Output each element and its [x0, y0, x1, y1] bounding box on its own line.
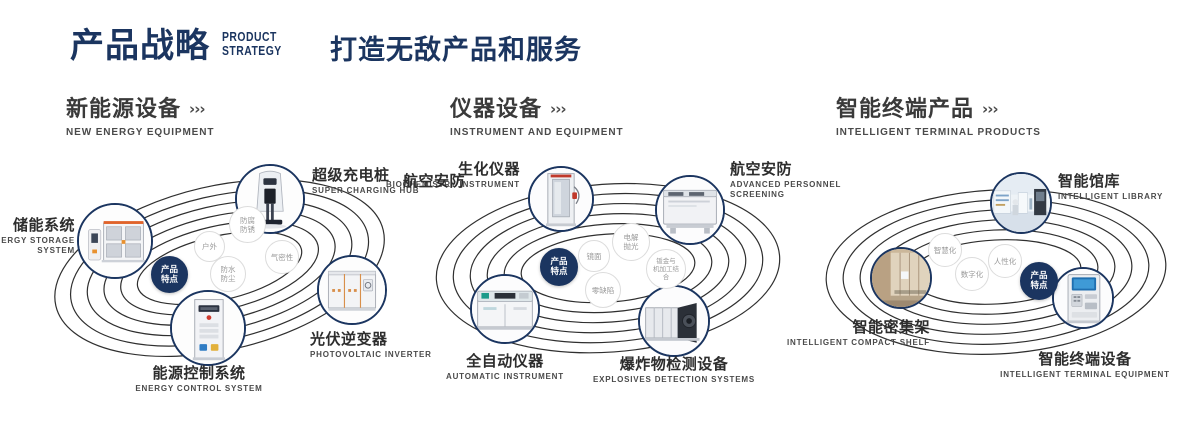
section-heading-instrument-cn: 仪器设备›››	[450, 96, 623, 123]
section-heading-new-energy: 新能源设备››› NEW ENERGY EQUIPMENT	[66, 96, 214, 138]
product-label-intelligent-compact-shelf: 智能密集架 INTELLIGENT COMPACT SHELF	[770, 318, 930, 348]
chevrons-right-icon: ›››	[189, 96, 205, 122]
section-heading-instrument-cn-text: 仪器设备	[450, 97, 542, 122]
section-heading-terminal: 智能终端产品››› INTELLIGENT TERMINAL PRODUCTS	[836, 96, 1041, 138]
page-title-english-line2: STRATEGY	[222, 44, 282, 58]
feature-bubble-airtight: 气密性	[265, 240, 299, 274]
section-heading-instrument-en: INSTRUMENT AND EQUIPMENT	[450, 127, 623, 138]
page-title-english: PRODUCT STRATEGY	[222, 30, 282, 58]
compact-shelf-icon	[872, 249, 930, 307]
product-circle-biochemistry-instrument[interactable]	[528, 166, 594, 232]
page-header: 产品战略 PRODUCT STRATEGY 打造无敌产品和服务	[0, 0, 1200, 86]
feature-bubble-main: 产品 特点	[1020, 262, 1058, 300]
feature-bubble-intelligentization: 智慧化	[928, 233, 962, 267]
product-label-energy-control-system: 能源控制系统 ENERGY CONTROL SYSTEM	[84, 364, 314, 394]
product-label-automatic-instrument: 全自动仪器 AUTOMATIC INSTRUMENT	[405, 352, 605, 382]
section-heading-terminal-cn-text: 智能终端产品	[836, 97, 974, 122]
cluster-new-energy-equipment: .spiral ellipse{fill:none;stroke:#2f2f2f…	[20, 150, 420, 412]
product-circle-advanced-personnel-screening[interactable]	[655, 175, 725, 245]
product-circle-intelligent-terminal-equipment[interactable]	[1052, 267, 1114, 329]
library-room-icon	[992, 174, 1050, 232]
chevrons-right-icon: ›››	[550, 96, 566, 122]
product-label-energy-storage-system: 储能系统 ENERGY STORAGE SYSTEM	[0, 216, 75, 256]
page-title: 产品战略	[70, 26, 210, 66]
feature-bubble-waterproof: 防水 防尘	[210, 256, 246, 292]
product-circle-energy-control-system[interactable]	[170, 290, 246, 366]
biochemistry-scanner-icon	[530, 168, 592, 230]
section-heading-new-energy-en: NEW ENERGY EQUIPMENT	[66, 127, 214, 138]
kiosk-terminal-icon	[1054, 269, 1112, 327]
product-circle-photovoltaic-inverter[interactable]	[317, 255, 387, 325]
feature-bubble-humanization: 人性化	[988, 244, 1022, 278]
inverter-cabinet-icon	[319, 257, 385, 323]
feature-bubble-digitalization: 数字化	[955, 257, 989, 291]
section-heading-terminal-cn: 智能终端产品›››	[836, 96, 1041, 123]
product-label-intelligent-library: 智能馆库 INTELLIGENT LIBRARY	[1058, 172, 1163, 202]
feature-bubble-main: 产品 特点	[151, 256, 188, 293]
explosives-detector-icon	[640, 287, 708, 355]
feature-bubble-mirror: 镜面	[578, 240, 610, 272]
product-circle-explosives-detection-systems[interactable]	[638, 285, 710, 357]
feature-bubble-zero-defect: 零缺陷	[585, 272, 621, 308]
product-circle-energy-storage-system[interactable]	[77, 203, 153, 279]
product-circle-automatic-instrument[interactable]	[470, 274, 540, 344]
product-label-aviation-security-left: 航空安防	[403, 172, 465, 190]
section-heading-new-energy-cn: 新能源设备›››	[66, 96, 214, 123]
feature-bubble-sheetmetal-machining: 钣金与 机加工结合	[646, 249, 686, 289]
product-circle-intelligent-library[interactable]	[990, 172, 1052, 234]
chevrons-right-icon: ›››	[982, 96, 998, 122]
automatic-analyzer-icon	[472, 276, 538, 342]
section-heading-new-energy-cn-text: 新能源设备	[66, 97, 181, 122]
section-heading-instrument: 仪器设备››› INSTRUMENT AND EQUIPMENT	[450, 96, 623, 138]
battery-cabinet-icon	[79, 205, 151, 277]
cluster-instrument-and-equipment: 生化仪器 BIOCHEMISTRY INSTRUMENT 航空安防 航空安防	[410, 150, 810, 412]
control-cabinet-icon	[172, 292, 244, 364]
screening-machine-icon	[657, 177, 723, 243]
feature-bubble-main: 产品 特点	[540, 248, 578, 286]
product-label-intelligent-terminal-equipment: 智能终端设备 INTELLIGENT TERMINAL EQUIPMENT	[980, 350, 1190, 380]
page-title-english-line1: PRODUCT	[222, 30, 282, 44]
product-strategy-infographic: 产品战略 PRODUCT STRATEGY 打造无敌产品和服务 新能源设备›››…	[0, 0, 1200, 422]
product-circle-intelligent-compact-shelf[interactable]	[870, 247, 932, 309]
feature-bubble-electropolishing: 电解 抛光	[612, 223, 650, 261]
cluster-intelligent-terminal-products: 智能馆库 INTELLIGENT LIBRARY 智能密集架 INTELLIGE…	[800, 150, 1200, 412]
page-slogan: 打造无敌产品和服务	[330, 34, 582, 68]
section-heading-terminal-en: INTELLIGENT TERMINAL PRODUCTS	[836, 127, 1041, 138]
feature-bubble-anticorrosion: 防腐 防锈	[229, 206, 266, 243]
